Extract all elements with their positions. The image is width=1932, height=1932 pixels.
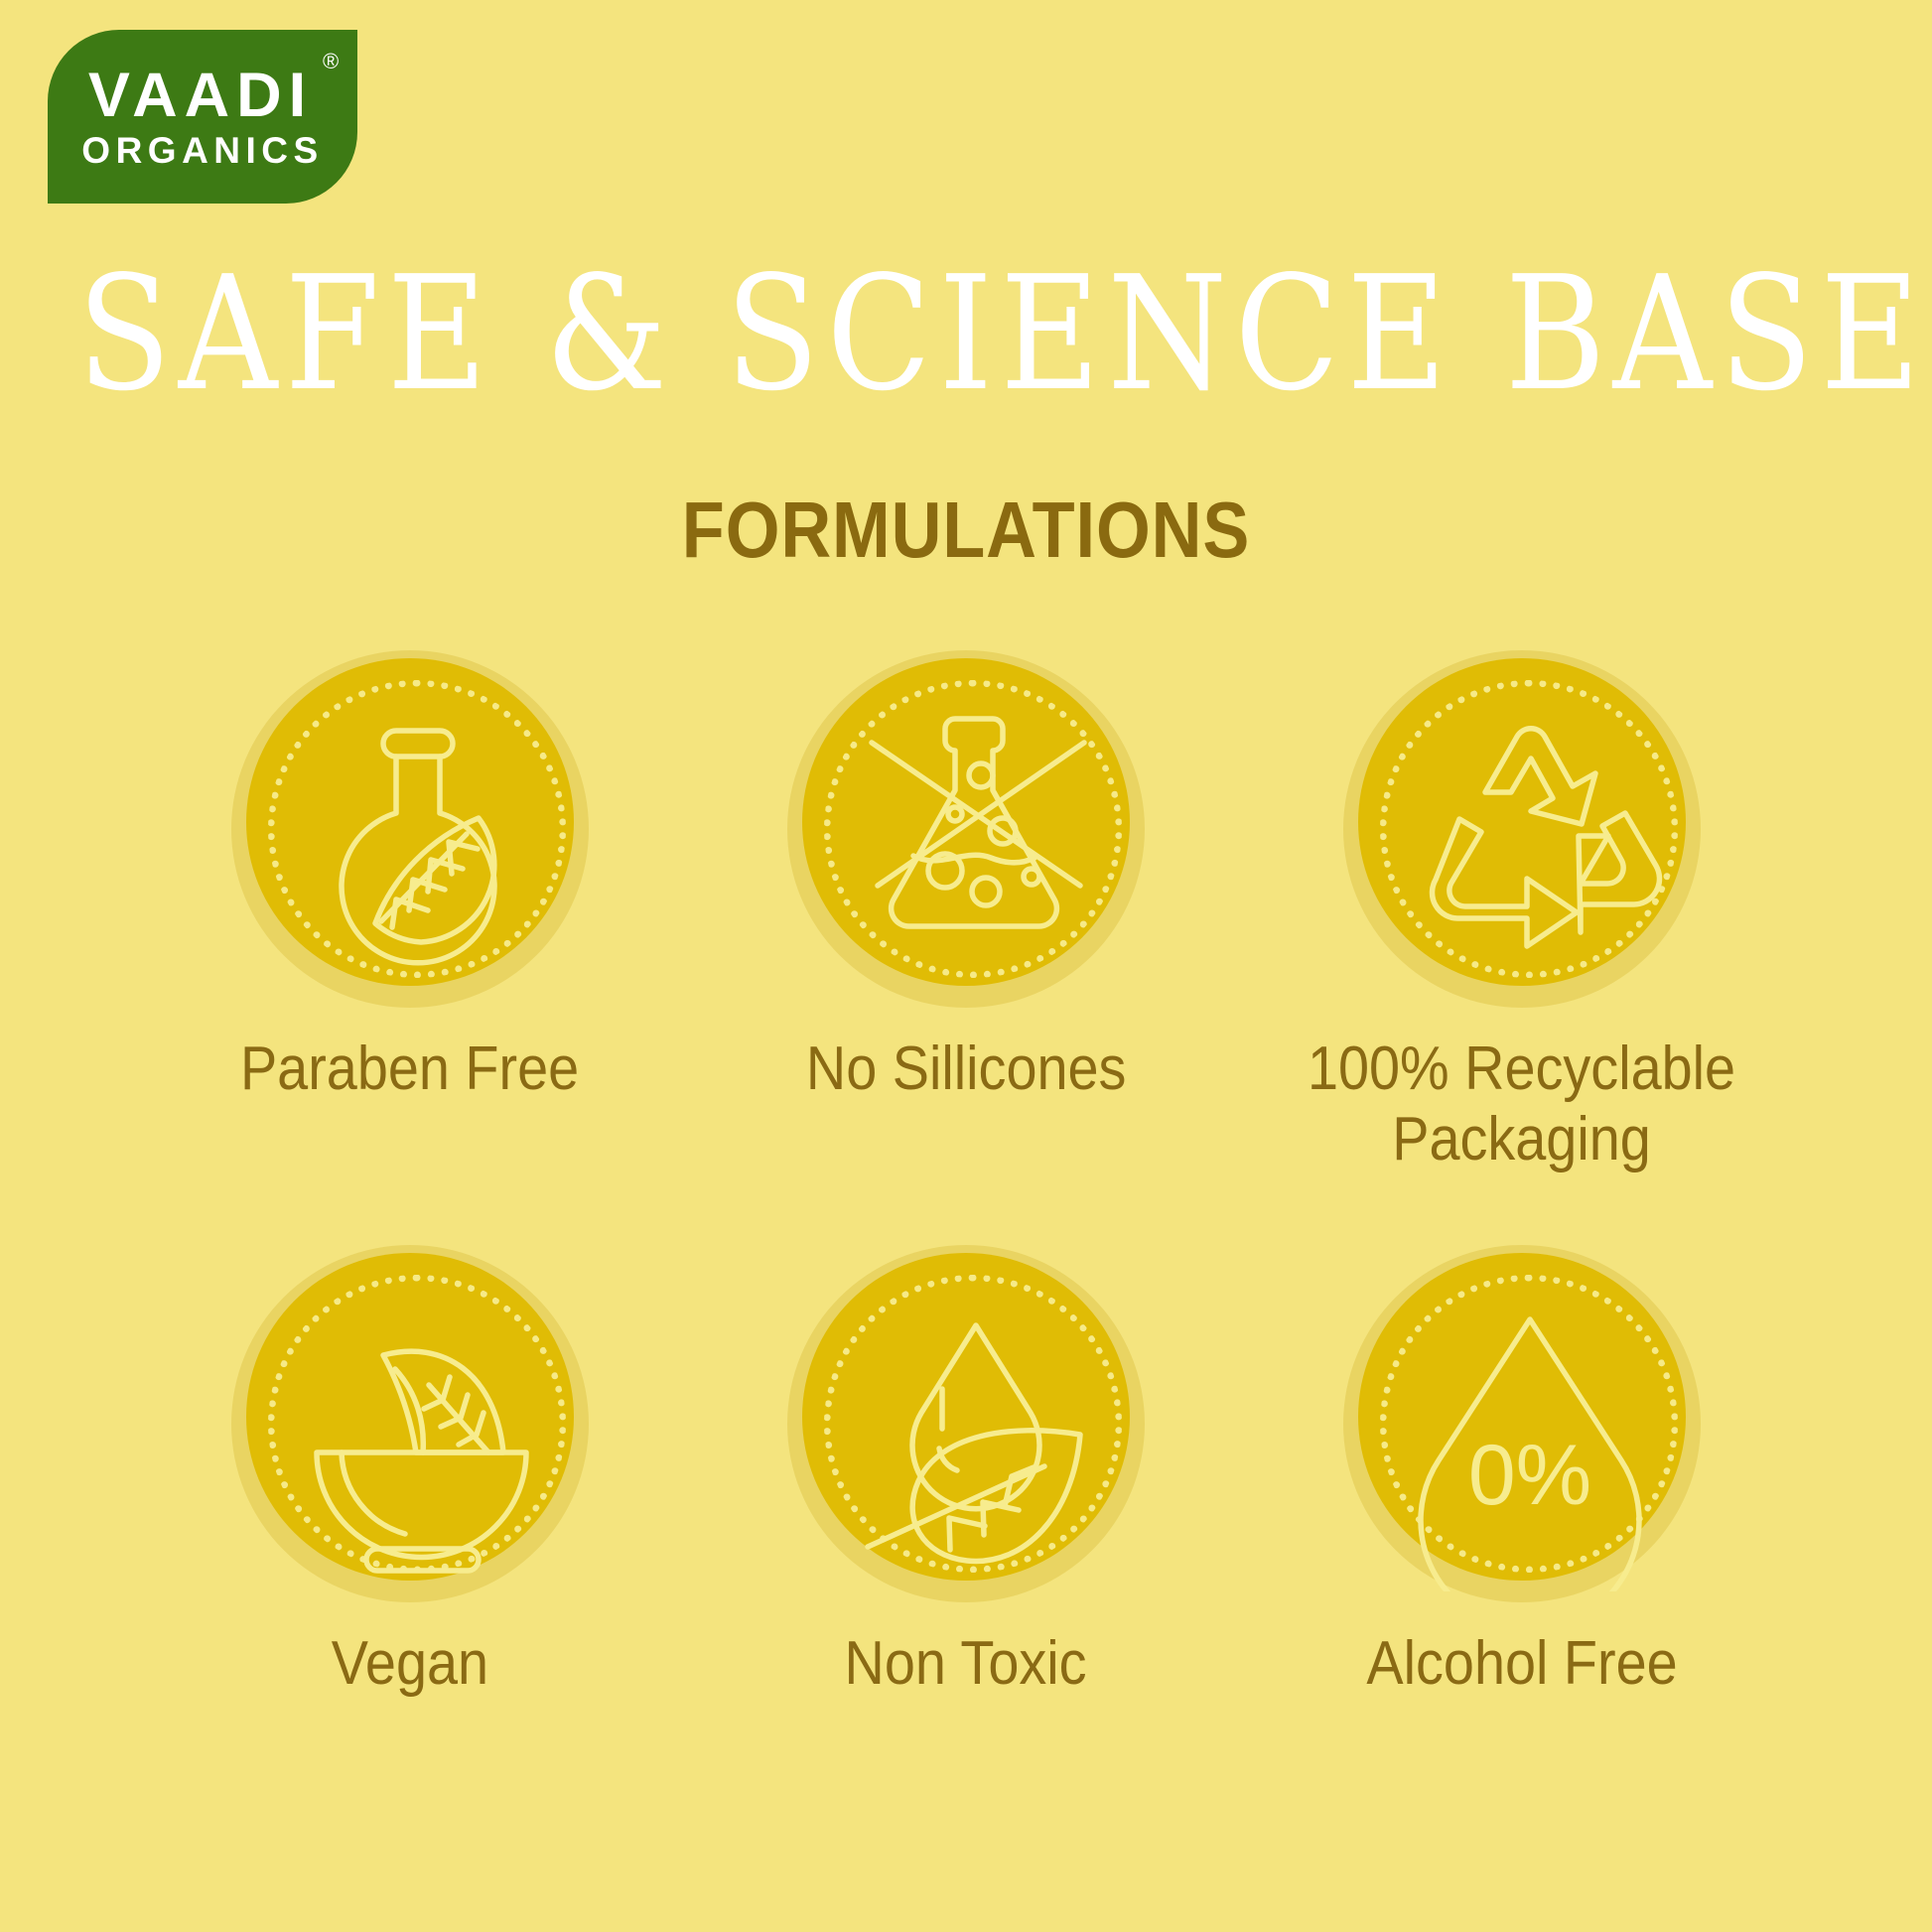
- brand-name: VAADI®: [88, 68, 317, 125]
- badge-alcohol-free: 0% Alcohol Free: [1244, 1245, 1800, 1699]
- feature-badge-grid: Paraben Free: [0, 650, 1932, 1699]
- badge-non-toxic: Non Toxic: [688, 1245, 1244, 1699]
- registered-trademark-icon: ®: [323, 52, 339, 71]
- badge-label: No Sillicones: [806, 1034, 1127, 1104]
- page-headline: SAFE & SCIENCE BASED: [77, 256, 1855, 414]
- badge-disc: [231, 650, 589, 1008]
- badge-disc: [787, 1245, 1145, 1602]
- badge-disc: [787, 650, 1145, 1008]
- mortar-leaf-icon: [254, 1264, 582, 1591]
- badge-label: Alcohol Free: [1366, 1628, 1677, 1699]
- badge-recyclable-packaging: 100% Recyclable Packaging: [1244, 650, 1800, 1175]
- badge-disc: [1343, 650, 1701, 1008]
- badge-vegan: Vegan: [132, 1245, 688, 1699]
- badge-paraben-free: Paraben Free: [132, 650, 688, 1104]
- brand-subtitle: ORGANICS: [81, 131, 323, 172]
- badge-label: Paraben Free: [240, 1034, 579, 1104]
- badge-label: Vegan: [332, 1628, 488, 1699]
- badge-disc: 0%: [1343, 1245, 1701, 1602]
- page-subheadline: FORMULATIONS: [116, 490, 1816, 570]
- flask-leaf-icon: [254, 669, 582, 997]
- brand-logo: VAADI® ORGANICS: [48, 30, 357, 204]
- badge-label: Non Toxic: [845, 1628, 1087, 1699]
- droplet-percent-text: 0%: [1467, 1428, 1590, 1523]
- recycle-icon: [1366, 669, 1694, 997]
- droplet-leaf-icon: [810, 1264, 1138, 1591]
- brand-name-text: VAADI: [88, 61, 313, 130]
- badge-row-2: Vegan: [0, 1245, 1932, 1699]
- badge-disc: [231, 1245, 589, 1602]
- badge-no-sillicones: No Sillicones: [688, 650, 1244, 1104]
- crossed-out-flask-icon: [810, 669, 1138, 997]
- droplet-zero-percent-icon: 0%: [1366, 1264, 1694, 1591]
- badge-row-1: Paraben Free: [0, 650, 1932, 1175]
- badge-label: 100% Recyclable Packaging: [1308, 1034, 1735, 1175]
